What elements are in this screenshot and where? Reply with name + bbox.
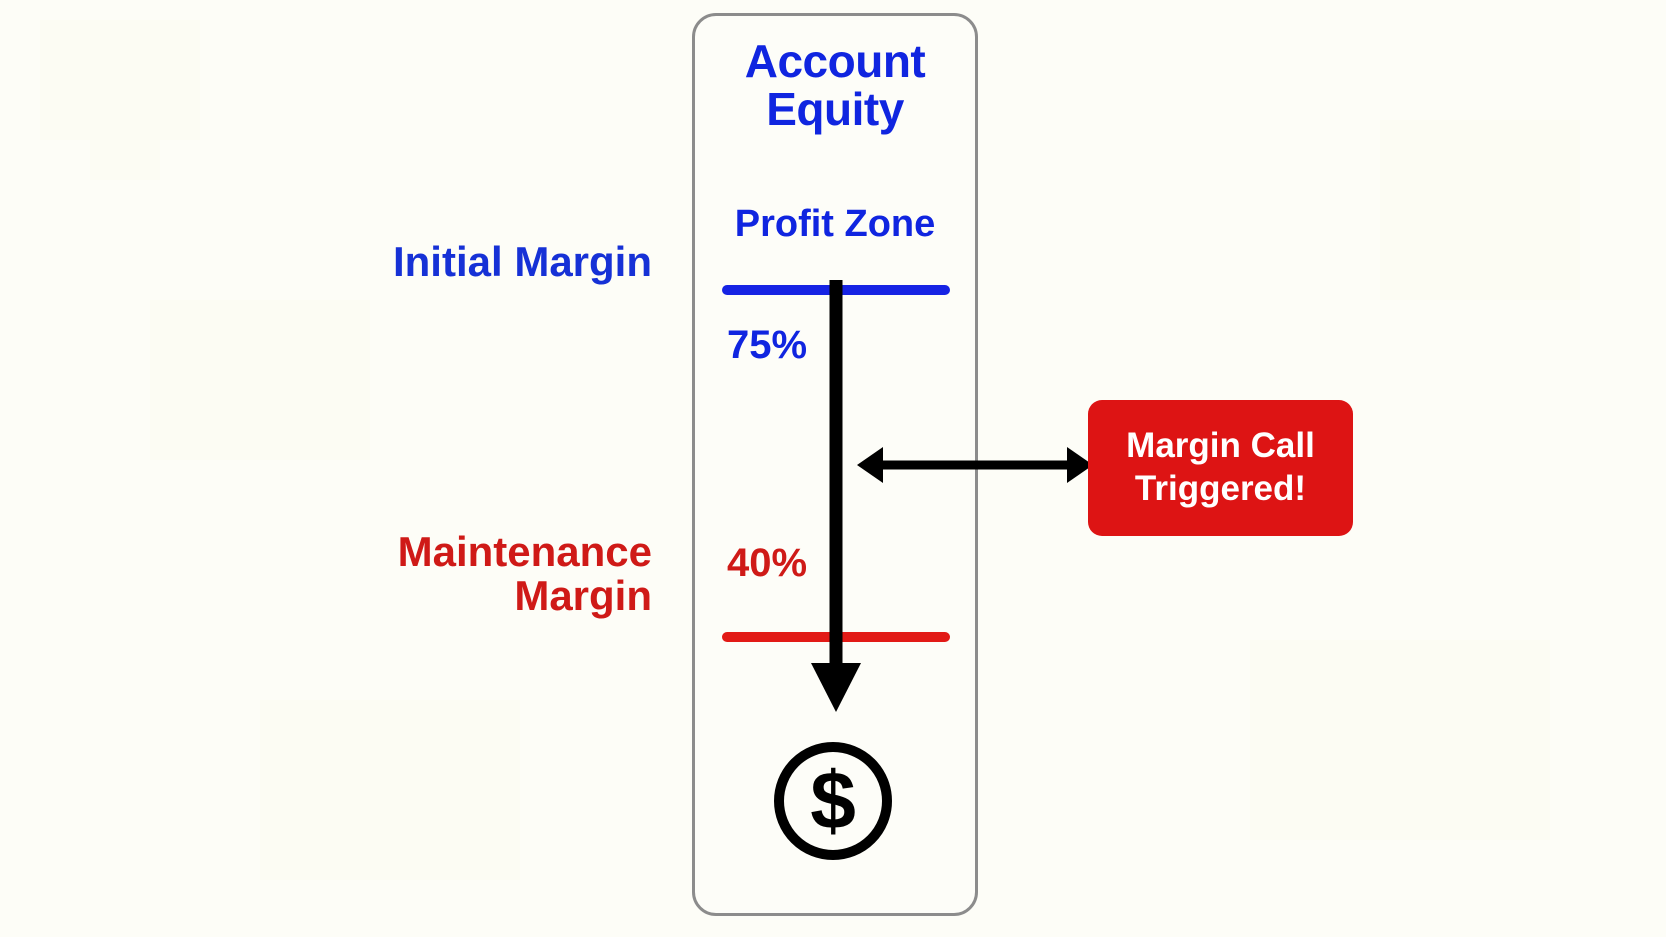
panel-title: Account Equity [692,38,978,134]
margin-call-line-2: Triggered! [1135,468,1306,511]
dollar-coin-icon: $ [770,738,896,864]
background-texture [1380,120,1580,300]
margin-call-line-1: Margin Call [1126,425,1315,468]
background-texture [40,20,200,140]
svg-text:$: $ [810,756,856,847]
double-headed-arrow-icon [855,440,1095,490]
down-arrow-icon [780,280,900,720]
margin-call-badge: Margin Call Triggered! [1088,400,1353,536]
maintenance-margin-label: Maintenance Margin [200,530,652,617]
background-texture [1250,640,1550,840]
initial-margin-label: Initial Margin [200,240,652,284]
background-texture [90,120,160,180]
diagram-canvas: Account Equity Profit Zone Initial Margi… [0,0,1666,937]
background-texture [260,700,520,880]
background-texture [150,300,370,460]
profit-zone-label: Profit Zone [692,205,978,245]
